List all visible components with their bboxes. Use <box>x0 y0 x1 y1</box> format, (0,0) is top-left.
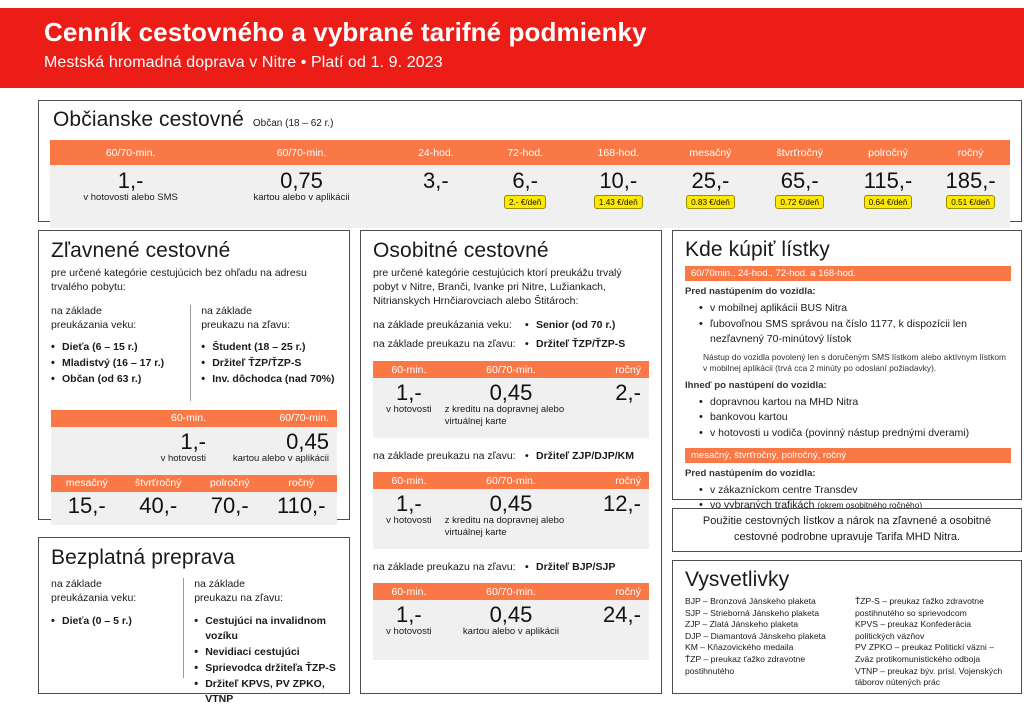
civic-col-header: 60/70-min. <box>211 147 391 159</box>
fare-price-list-page: Cenník cestovného a vybrané tarifné podm… <box>0 0 1024 724</box>
divider <box>190 305 191 401</box>
discount-col2-label: na základe preukazu na zľavu: <box>201 305 337 333</box>
discount-table2-row: 15,-40,-70,-110,- <box>51 492 337 525</box>
special-criteria-label: na základe preukazu na zľavu: <box>373 450 525 464</box>
special-price-note: v hotovosti <box>386 515 431 527</box>
discount-period-header: ročný <box>266 477 338 489</box>
civic-col-header-label: štvrťročný <box>755 147 845 159</box>
special-col-cell: 1,-v hotovosti <box>373 603 445 660</box>
discount-col-cell: 0,45kartou alebo v aplikácii <box>214 430 337 475</box>
civic-col-header: 60/70-min. <box>50 147 211 159</box>
civic-col-header: štvrťročný <box>755 147 845 159</box>
special-col-header-label: 60/70-min. <box>486 364 536 376</box>
discount-col-header: 60-min. <box>51 412 214 424</box>
special-col-header-label: 60-min. <box>391 586 426 598</box>
where-group1-note: Nástup do vozidla povolený len s doručen… <box>703 352 1011 374</box>
special-col-cell: 1,-v hotovosti <box>373 492 445 549</box>
bullet-icon: • <box>525 561 529 573</box>
special-col-header: ročný <box>577 475 649 487</box>
civic-col-header-label: 24-hod. <box>392 147 480 159</box>
special-criteria-label: na základe preukázania veku: <box>373 319 525 333</box>
civic-col-header: polročný <box>845 147 931 159</box>
special-col-header-label: 60-min. <box>391 475 426 487</box>
where-group1-label: Pred nastúpením do vozidla: <box>685 286 1011 299</box>
special-col-header: 60/70-min. <box>445 586 577 598</box>
civic-per-day-badge: 0.83 €/deň <box>686 195 735 209</box>
civic-table-header: 60/70-min.60/70-min.24-hod.72-hod.168-ho… <box>50 140 1010 165</box>
discount-price-note: v hotovosti <box>161 453 206 465</box>
special-table1-row: 1,-v hotovosti0,45z kreditu na dopravnej… <box>373 378 649 438</box>
legend-entry: SJP – Strieborná Jánskeho plaketa <box>685 608 843 620</box>
civic-subtitle: Občan (18 – 62 r.) <box>253 118 334 129</box>
special-price: 0,45 <box>490 381 533 404</box>
free-list-item: Cestujúci na invalidnom vozíku <box>194 614 337 646</box>
civic-table-row: 1,-v hotovosti alebo SMS0,75kartou alebo… <box>50 165 1010 228</box>
discount-period-price: 15,- <box>68 494 106 517</box>
civic-per-day-badge: 2.- €/deň <box>504 195 546 209</box>
special-col-cell: 12,- <box>577 492 649 549</box>
where-list-item: v hotovosti u vodiča (povinný nástup pre… <box>699 426 1011 442</box>
civic-col-header-label: 60/70-min. <box>211 147 391 159</box>
discount-list-item: Študent (18 – 25 r.) <box>201 340 337 356</box>
discount-period-cell: 15,- <box>51 494 123 525</box>
legend-title: Vysvetlivky <box>685 568 1011 592</box>
civic-col-header-label: ročný <box>931 147 1010 159</box>
civic-col-cell: 1,-v hotovosti alebo SMS <box>50 169 211 228</box>
special-criteria3: na základe preukazu na zľavu:•Držiteľ BJ… <box>373 561 649 575</box>
discount-period-header: mesačný <box>51 477 123 489</box>
discount-col1-label: na základe preukázania veku: <box>51 305 180 333</box>
page-subtitle: Mestská hromadná doprava v Nitre • Platí… <box>44 54 1024 72</box>
where-group1-list: v mobilnej aplikácii BUS Nitraľubovoľnou… <box>685 301 1011 348</box>
discount-col-header: 60/70-min. <box>214 412 337 424</box>
free-list-item: Sprievodca držiteľa ŤZP-S <box>194 661 337 677</box>
special-criteria-value: •Držiteľ ŤZP/ŤZP-S <box>525 338 625 350</box>
where-list-item: ľubovoľnou SMS správou na číslo 1177, k … <box>699 317 1011 349</box>
free-col1-label: na základe preukázania veku: <box>51 578 173 606</box>
where-list-item: v mobilnej aplikácii BUS Nitra <box>699 301 1011 317</box>
special-col-header-label: 60/70-min. <box>486 475 536 487</box>
special-price: 24,- <box>603 603 641 626</box>
civic-per-day-badge: 0.64 €/deň <box>864 195 913 209</box>
where-group3-label: Pred nastúpením do vozidla: <box>685 468 1011 481</box>
special-price: 1,- <box>396 603 422 626</box>
free-transport-section: Bezplatná preprava na základe preukázani… <box>38 537 350 694</box>
special-title: Osobitné cestovné <box>373 239 649 263</box>
special-criteria-row: na základe preukazu na zľavu:•Držiteľ BJ… <box>373 561 649 575</box>
where-strip2-label: mesačný, štvrťročný, polročný, ročný <box>691 450 846 461</box>
special-price: 0,45 <box>490 603 533 626</box>
special-price-note: z kreditu na dopravnej alebo virtuálnej … <box>445 515 577 539</box>
civic-col-header-label: 168-hod. <box>570 147 666 159</box>
special-criteria-list: na základe preukázania veku:•Senior (od … <box>373 319 649 353</box>
where-list-item: bankovou kartou <box>699 410 1011 426</box>
civic-col-header: ročný <box>931 147 1010 159</box>
civic-per-day-badge: 1.43 €/deň <box>594 195 643 209</box>
special-table2-header: 60-min.60/70-min.ročný <box>373 472 649 489</box>
special-criteria-label: na základe preukazu na zľavu: <box>373 338 525 352</box>
tariff-note-text: Použitie cestovných lístkov a nárok na z… <box>687 514 1007 545</box>
civic-title: Občianske cestovné <box>53 108 244 132</box>
special-col-cell: 2,- <box>577 381 649 438</box>
special-fare-section: Osobitné cestovné pre určené kategórie c… <box>360 230 662 694</box>
legend-entry: ŤZP – preukaz ťažko zdravotne postihnuté… <box>685 654 843 677</box>
page-title: Cenník cestovného a vybrané tarifné podm… <box>44 17 1024 48</box>
special-col-header-label: 60/70-min. <box>486 586 536 598</box>
discount-price: 1,- <box>180 430 206 453</box>
legend-column-left: BJP – Bronzová Jánskeho plaketaSJP – Str… <box>685 596 843 689</box>
discount-title: Zľavnené cestovné <box>51 239 337 263</box>
special-col-cell: 0,45kartou alebo v aplikácii <box>445 603 577 660</box>
legend-entry: VTNP – preukaz býv. prísl. Vojenských tá… <box>855 666 1011 689</box>
discount-period-price: 40,- <box>139 494 177 517</box>
civic-col-cell: 25,-0.83 €/deň <box>666 169 754 228</box>
special-criteria2: na základe preukazu na zľavu:•Držiteľ ZJ… <box>373 450 649 464</box>
special-price-note: z kreditu na dopravnej alebo virtuálnej … <box>445 404 577 428</box>
where-strip1-label: 60/70min., 24-hod., 72-hod. a 168-hod. <box>691 268 856 279</box>
civic-price: 3,- <box>423 169 449 192</box>
civic-col-cell: 115,-0.64 €/deň <box>845 169 931 228</box>
where-group2-list: dopravnou kartou na MHD Nitrabankovou ka… <box>685 395 1011 442</box>
page-header-banner: Cenník cestovného a vybrané tarifné podm… <box>0 8 1024 88</box>
civic-col-header: 168-hod. <box>570 147 666 159</box>
special-price-note: kartou alebo v aplikácii <box>463 626 559 638</box>
discount-col-header-label: 60-min. <box>171 412 206 424</box>
legend-column-right: ŤZP-S – preukaz ťažko zdravotne postihnu… <box>855 596 1011 689</box>
special-price-note: v hotovosti <box>386 404 431 416</box>
free-list-item: Držiteľ KPVS, PV ZPKO, VTNP <box>194 677 337 709</box>
special-col-cell: 0,45z kreditu na dopravnej alebo virtuál… <box>445 492 577 549</box>
discount-period-cell: 110,- <box>266 494 338 525</box>
bullet-icon: • <box>525 319 529 331</box>
special-price: 2,- <box>615 381 641 404</box>
free-list-item: Dieťa (0 – 5 r.) <box>51 614 173 630</box>
civic-col-header: mesačný <box>666 147 754 159</box>
special-col-cell: 1,-v hotovosti <box>373 381 445 438</box>
legend-entry: BJP – Bronzová Jánskeho plaketa <box>685 596 843 608</box>
special-col-header: ročný <box>577 586 649 598</box>
discount-col1-list: Dieťa (6 – 15 r.)Mladistvý (16 – 17 r.)O… <box>51 340 180 387</box>
special-col-header-label: 60-min. <box>391 364 426 376</box>
where-strip-single-tickets: 60/70min., 24-hod., 72-hod. a 168-hod. <box>685 266 1011 281</box>
civic-price: 6,- <box>512 169 538 192</box>
special-col-header-label: ročný <box>615 475 641 487</box>
legend-entry: ZJP – Zlatá Jánskeho plaketa <box>685 619 843 631</box>
discount-list-item: Držiteľ ŤZP/ŤZP-S <box>201 356 337 372</box>
civic-col-header-label: mesačný <box>666 147 754 159</box>
civic-price: 0,75 <box>280 169 323 192</box>
special-price: 0,45 <box>490 492 533 515</box>
where-group2-label: Ihneď po nastúpení do vozidla: <box>685 380 1011 393</box>
special-price: 12,- <box>603 492 641 515</box>
discount-period-label: mesačný <box>66 477 108 489</box>
discount-list-item: Dieťa (6 – 15 r.) <box>51 340 180 356</box>
special-criteria-value: •Senior (od 70 r.) <box>525 319 615 331</box>
special-criteria-label: na základe preukazu na zľavu: <box>373 561 525 575</box>
special-criteria-value: •Držiteľ ZJP/DJP/KM <box>525 450 634 462</box>
free-col1-list: Dieťa (0 – 5 r.) <box>51 614 173 630</box>
discount-fare-section: Zľavnené cestovné pre určené kategórie c… <box>38 230 350 520</box>
civic-fare-section: Občianske cestovné Občan (18 – 62 r.) 60… <box>38 100 1022 222</box>
special-col-header: 60/70-min. <box>445 475 577 487</box>
special-intro: pre určené kategórie cestujúcich ktorí p… <box>373 267 649 309</box>
divider <box>183 578 184 678</box>
special-price-note: v hotovosti <box>386 626 431 638</box>
civic-per-day-badge: 0.51 €/deň <box>946 195 995 209</box>
where-list-item: v zákazníckom centre Transdev <box>699 483 1011 499</box>
discount-list-item: Inv. dôchodca (nad 70%) <box>201 372 337 388</box>
special-table3-header: 60-min.60/70-min.ročný <box>373 583 649 600</box>
special-table3-row: 1,-v hotovosti0,45kartou alebo v aplikác… <box>373 600 649 660</box>
civic-col-header: 24-hod. <box>392 147 480 159</box>
special-col-cell: 24,- <box>577 603 649 660</box>
legend-entry: PV ZPKO – preukaz Politickí väzni – Zväz… <box>855 642 1011 665</box>
special-col-header: 60-min. <box>373 364 445 376</box>
discount-period-label: štvrťročný <box>135 477 182 489</box>
discount-price: 0,45 <box>286 430 329 453</box>
discount-period-header: polročný <box>194 477 266 489</box>
civic-col-header-label: polročný <box>845 147 931 159</box>
civic-price: 25,- <box>691 169 729 192</box>
discount-list-item: Občan (od 63 r.) <box>51 372 180 388</box>
special-col-header-label: ročný <box>615 364 641 376</box>
special-table2-row: 1,-v hotovosti0,45z kreditu na dopravnej… <box>373 489 649 549</box>
discount-table1-header: 60-min.60/70-min. <box>51 410 337 427</box>
legend-entry: KM – Kňazovického medaila <box>685 642 843 654</box>
civic-col-header-label: 72-hod. <box>480 147 570 159</box>
discount-period-cell: 40,- <box>123 494 195 525</box>
discount-table2-header: mesačnýštvrťročnýpolročnýročný <box>51 475 337 492</box>
civic-col-cell: 3,- <box>392 169 480 228</box>
civic-col-header-label: 60/70-min. <box>50 147 211 159</box>
discount-period-label: polročný <box>210 477 250 489</box>
special-col-header: ročný <box>577 364 649 376</box>
discount-col-cell: 1,-v hotovosti <box>51 430 214 475</box>
bullet-icon: • <box>525 338 529 350</box>
where-to-buy-section: Kde kúpiť lístky 60/70min., 24-hod., 72-… <box>672 230 1022 500</box>
special-col-header: 60-min. <box>373 586 445 598</box>
civic-price: 10,- <box>599 169 637 192</box>
civic-col-cell: 185,-0.51 €/deň <box>931 169 1010 228</box>
special-criteria-value: •Držiteľ BJP/SJP <box>525 561 615 573</box>
bullet-icon: • <box>525 450 529 462</box>
where-strip-passes: mesačný, štvrťročný, polročný, ročný <box>685 448 1011 463</box>
tariff-note-box: Použitie cestovných lístkov a nárok na z… <box>672 508 1022 552</box>
discount-table1-row: 1,-v hotovosti0,45kartou alebo v aplikác… <box>51 427 337 475</box>
where-title: Kde kúpiť lístky <box>685 238 1011 262</box>
special-criteria-row: na základe preukazu na zľavu:•Držiteľ ŤZ… <box>373 338 649 352</box>
special-col-header: 60/70-min. <box>445 364 577 376</box>
civic-col-header: 72-hod. <box>480 147 570 159</box>
legend-entry: KPVS – preukaz Konfederácia politických … <box>855 619 1011 642</box>
free-title: Bezplatná preprava <box>51 546 337 570</box>
discount-price-note: kartou alebo v aplikácii <box>233 453 329 465</box>
civic-price: 185,- <box>946 169 996 192</box>
special-criteria-row: na základe preukázania veku:•Senior (od … <box>373 319 649 333</box>
civic-price: 115,- <box>864 169 913 192</box>
legend-entry: DJP – Diamantová Jánskeho plaketa <box>685 631 843 643</box>
discount-list-item: Mladistvý (16 – 17 r.) <box>51 356 180 372</box>
legend-section: Vysvetlivky BJP – Bronzová Jánskeho plak… <box>672 560 1022 694</box>
civic-col-cell: 65,-0.72 €/deň <box>755 169 845 228</box>
free-list-item: Nevidiaci cestujúci <box>194 645 337 661</box>
civic-price: 1,- <box>118 169 144 192</box>
legend-entry: ŤZP-S – preukaz ťažko zdravotne postihnu… <box>855 596 1011 619</box>
special-table1-header: 60-min.60/70-min.ročný <box>373 361 649 378</box>
discount-period-cell: 70,- <box>194 494 266 525</box>
civic-col-cell: 0,75kartou alebo v aplikácii <box>211 169 391 228</box>
where-list-item: dopravnou kartou na MHD Nitra <box>699 395 1011 411</box>
civic-price-note: kartou alebo v aplikácii <box>253 192 349 204</box>
civic-col-cell: 10,-1.43 €/deň <box>570 169 666 228</box>
discount-period-price: 70,- <box>211 494 249 517</box>
discount-intro: pre určené kategórie cestujúcich bez ohľ… <box>51 267 337 295</box>
civic-price-note: v hotovosti alebo SMS <box>83 192 178 204</box>
special-price: 1,- <box>396 381 422 404</box>
discount-period-price: 110,- <box>277 494 326 517</box>
civic-price: 65,- <box>781 169 819 192</box>
special-price: 1,- <box>396 492 422 515</box>
civic-per-day-badge: 0.72 €/deň <box>775 195 824 209</box>
discount-period-header: štvrťročný <box>123 477 195 489</box>
special-col-cell: 0,45z kreditu na dopravnej alebo virtuál… <box>445 381 577 438</box>
discount-col-header-label: 60/70-min. <box>279 412 329 424</box>
civic-col-cell: 6,-2.- €/deň <box>480 169 570 228</box>
free-col2-label: na základe preukazu na zľavu: <box>194 578 337 606</box>
special-col-header: 60-min. <box>373 475 445 487</box>
special-criteria-row: na základe preukazu na zľavu:•Držiteľ ZJ… <box>373 450 649 464</box>
discount-col2-list: Študent (18 – 25 r.)Držiteľ ŤZP/ŤZP-SInv… <box>201 340 337 387</box>
free-col2-list: Cestujúci na invalidnom vozíkuNevidiaci … <box>194 614 337 709</box>
discount-period-label: ročný <box>288 477 314 489</box>
special-col-header-label: ročný <box>615 586 641 598</box>
